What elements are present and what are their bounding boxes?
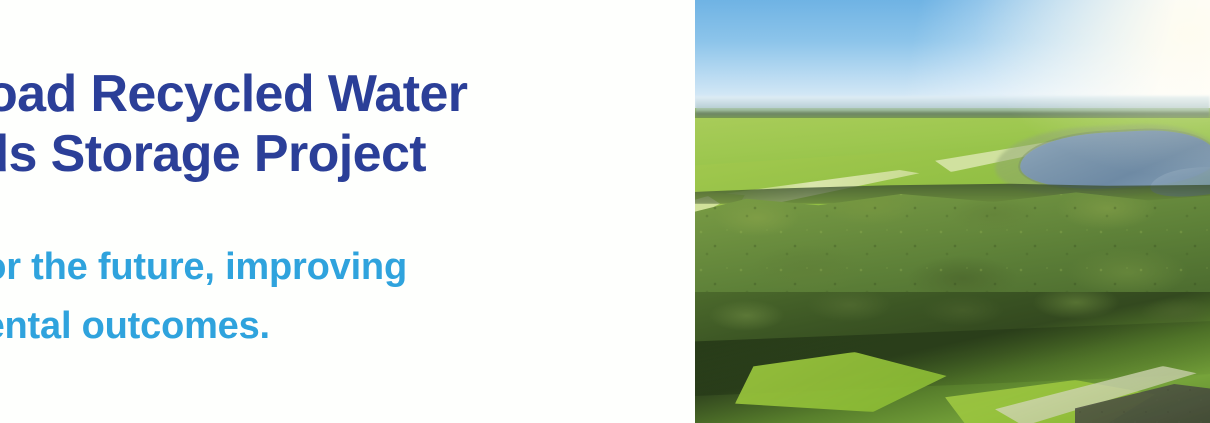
hero-banner: g Road Recycled Water lands Storage Proj… bbox=[0, 0, 1210, 423]
banner-text-inner: g Road Recycled Water lands Storage Proj… bbox=[0, 0, 695, 423]
banner-text-panel: g Road Recycled Water lands Storage Proj… bbox=[0, 0, 695, 423]
headline-line-1: g Road Recycled Water bbox=[0, 64, 695, 124]
subheadline-line-2: onmental outcomes. bbox=[0, 297, 695, 356]
photo-sun-glare bbox=[695, 0, 1210, 423]
banner-subheadline: ing for the future, improving onmental o… bbox=[0, 238, 695, 356]
banner-photo bbox=[695, 0, 1210, 423]
headline-line-2: lands Storage Project bbox=[0, 124, 695, 184]
banner-headline: g Road Recycled Water lands Storage Proj… bbox=[0, 64, 695, 185]
subheadline-line-1: ing for the future, improving bbox=[0, 238, 695, 297]
